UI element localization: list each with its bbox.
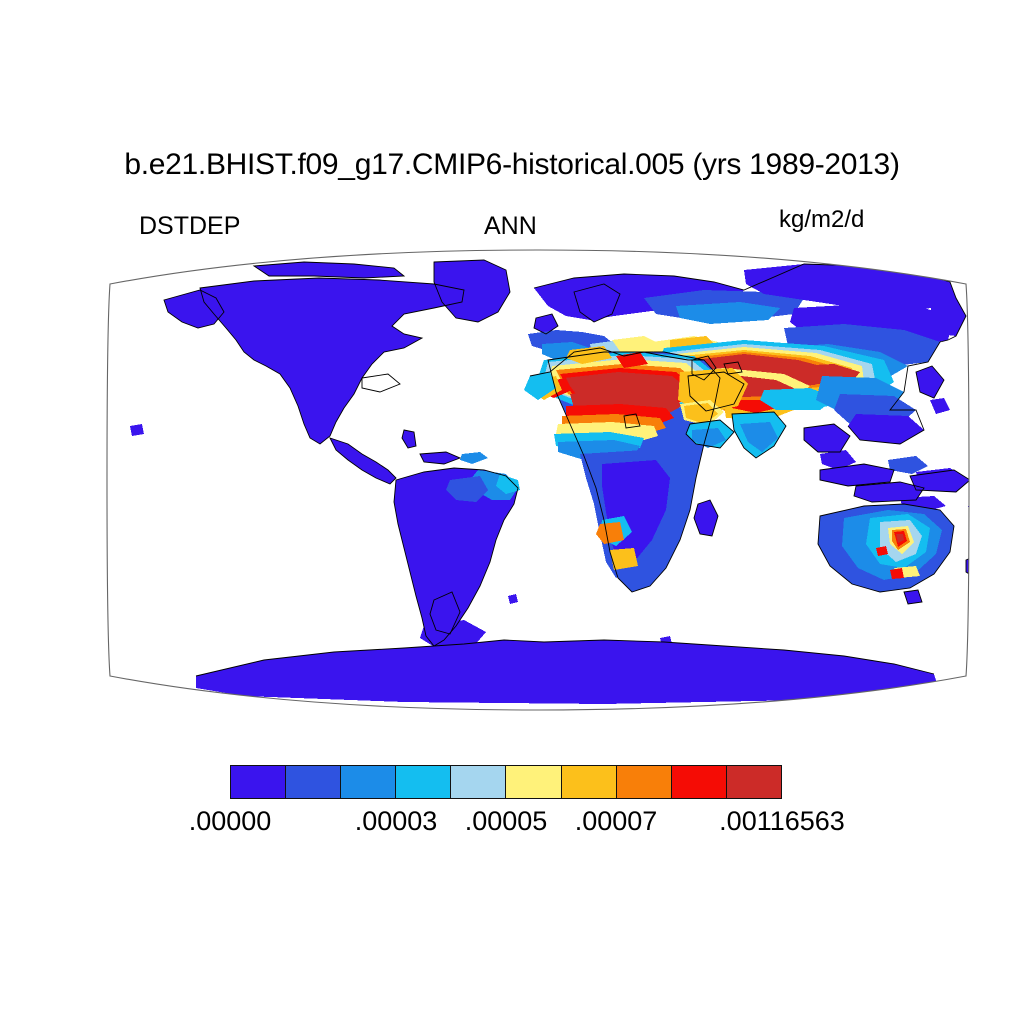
- world-map: [104, 248, 972, 712]
- colorbar-segment-4: [451, 766, 506, 798]
- colorbar-segment-1: [286, 766, 341, 798]
- colorbar: [230, 765, 782, 799]
- colorbar-segment-2: [341, 766, 396, 798]
- colorbar-label-3: .00007: [575, 806, 658, 837]
- colorbar-label-4: .00116563: [719, 806, 845, 837]
- units-label: kg/m2/d: [779, 206, 864, 234]
- colorbar-segment-7: [617, 766, 672, 798]
- colorbar-segment-8: [672, 766, 727, 798]
- colorbar-segment-5: [506, 766, 561, 798]
- colorbar-segments: [230, 765, 782, 799]
- colorbar-segment-6: [562, 766, 617, 798]
- time-period-label: ANN: [484, 212, 537, 241]
- colorbar-tick-labels: .00000.00003.00005.00007.00116563: [0, 806, 1024, 846]
- colorbar-segment-0: [231, 766, 286, 798]
- variable-label: DSTDEP: [139, 212, 240, 241]
- colorbar-label-1: .00003: [355, 806, 438, 837]
- subtitle-row: DSTDEP ANN kg/m2/d: [0, 206, 1024, 242]
- colorbar-segment-3: [396, 766, 451, 798]
- page-title: b.e21.BHIST.f09_g17.CMIP6-historical.005…: [0, 148, 1024, 182]
- colorbar-label-0: .00000: [189, 806, 272, 837]
- colorbar-label-2: .00005: [465, 806, 548, 837]
- map-plot-area: [104, 248, 972, 712]
- colorbar-segment-9: [727, 766, 781, 798]
